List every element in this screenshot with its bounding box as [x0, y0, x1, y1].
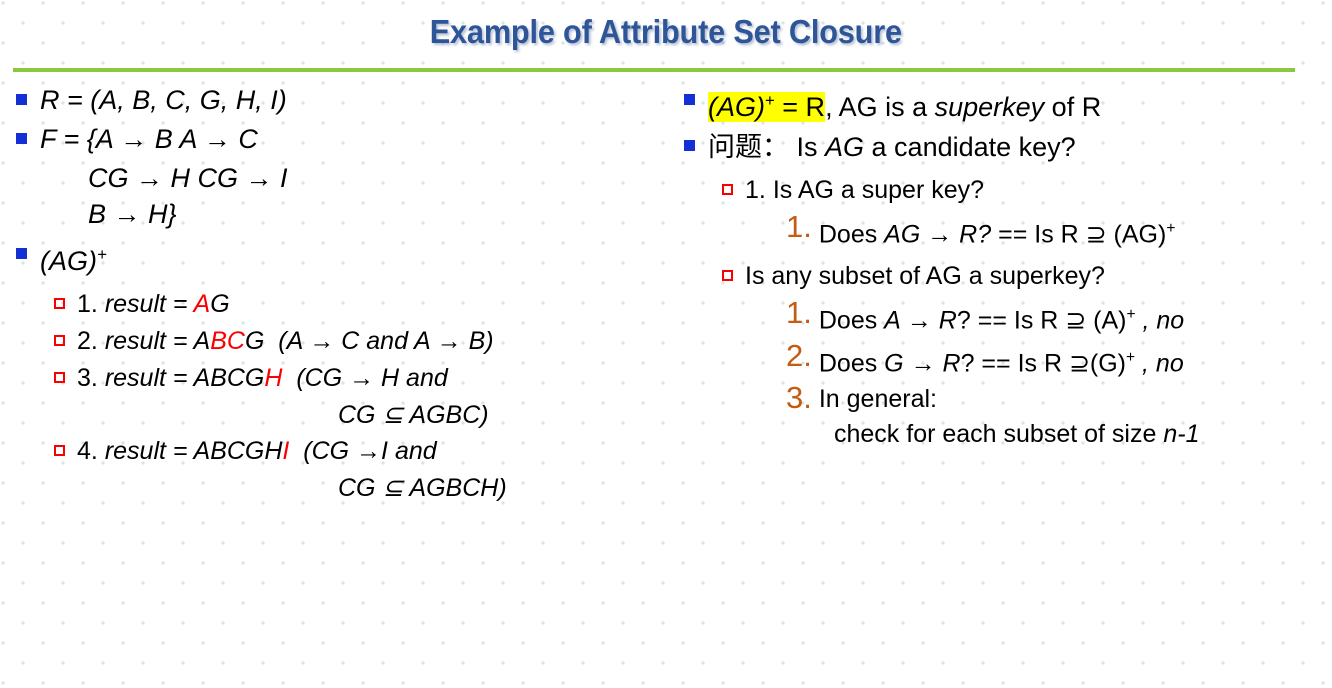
square-bullet-icon — [16, 248, 27, 259]
square-outline-bullet-icon — [722, 184, 733, 195]
step-4-continuation: CG ⊆ AGBCH) — [8, 470, 668, 506]
closure-header-text: (AG)+ — [40, 236, 107, 280]
check-3-text: Does G → R? == Is R ⊇(G)+ , no — [819, 338, 1184, 380]
square-bullet-icon — [16, 94, 27, 105]
list-item-step-2: 2. result = ABCG (A → C and A → B) — [8, 323, 668, 359]
check-1-text: Does AG → R? == Is R ⊇ (AG)+ — [819, 209, 1176, 251]
ordered-number-1: 1. — [786, 211, 812, 242]
list-item-step-4: 4. result = ABCGHI (CG →I and — [8, 433, 668, 469]
ordered-number-1: 1. — [786, 297, 812, 328]
page-title: Example of Attribute Set Closure — [430, 13, 902, 51]
sub-question-2-text: Is any subset of AG a superkey? — [745, 258, 1105, 294]
check-2-text: Does A → R? == Is R ⊇ (A)+ , no — [819, 295, 1184, 337]
sub-question-1-text: 1. Is AG a super key? — [745, 172, 984, 208]
step-3-text: 3. result = ABCGH (CG → H and — [77, 360, 448, 396]
list-item-check-1: 1. Does AG → R? == Is R ⊇ (AG)+ — [676, 209, 1326, 251]
square-bullet-icon — [16, 133, 27, 144]
right-content-column: (AG)+ = R, AG is a superkey of R 问题： Is … — [676, 82, 1326, 452]
step-4-text: 4. result = ABCGHI (CG →I and — [77, 433, 437, 469]
ordered-number-2: 2. — [786, 340, 812, 371]
question-text: 问题： Is AG a candidate key? — [708, 128, 1076, 166]
fd-set-first-line: F = {A → B A → C — [40, 121, 258, 158]
check-4-text: In general: — [819, 380, 937, 416]
superkey-conclusion-text: (AG)+ = R, AG is a superkey of R — [708, 82, 1101, 126]
step-1-text: 1. result = AG — [77, 286, 230, 322]
square-outline-bullet-icon — [54, 372, 65, 383]
square-bullet-icon — [684, 140, 695, 151]
list-item-sub-question-1: 1. Is AG a super key? — [676, 172, 1326, 208]
fd-set-second-line: CG → H CG → I — [8, 160, 668, 196]
list-item-relation: R = (A, B, C, G, H, I) — [8, 82, 668, 119]
list-item-question: 问题： Is AG a candidate key? — [676, 128, 1326, 166]
step-2-text: 2. result = ABCG (A → C and A → B) — [77, 323, 494, 359]
title-bar: Example of Attribute Set Closure — [0, 0, 1332, 64]
list-item-check-2: 1. Does A → R? == Is R ⊇ (A)+ , no — [676, 295, 1326, 337]
list-item-fd-set: F = {A → B A → C — [8, 121, 668, 158]
list-item-superkey-conclusion: (AG)+ = R, AG is a superkey of R — [676, 82, 1326, 126]
relation-definition: R = (A, B, C, G, H, I) — [40, 82, 287, 119]
check-4-continuation: check for each subset of size n-1 — [676, 416, 1326, 452]
square-outline-bullet-icon — [54, 298, 65, 309]
square-outline-bullet-icon — [722, 270, 733, 281]
list-item-closure-header: (AG)+ — [8, 236, 668, 280]
square-bullet-icon — [684, 94, 695, 105]
list-item-check-3: 2. Does G → R? == Is R ⊇(G)+ , no — [676, 338, 1326, 380]
list-item-step-1: 1. result = AG — [8, 286, 668, 322]
square-outline-bullet-icon — [54, 445, 65, 456]
step-3-continuation: CG ⊆ AGBC) — [8, 397, 668, 433]
title-divider — [13, 68, 1295, 72]
list-item-check-4: 3. In general: — [676, 380, 1326, 416]
square-outline-bullet-icon — [54, 335, 65, 346]
highlighted-closure: (AG)+ = R — [708, 92, 825, 122]
spacer — [676, 251, 1326, 258]
left-content-column: R = (A, B, C, G, H, I) F = {A → B A → C … — [8, 82, 668, 506]
fd-set-third-line: B → H} — [8, 196, 668, 232]
list-item-sub-question-2: Is any subset of AG a superkey? — [676, 258, 1326, 294]
ordered-number-3: 3. — [786, 382, 812, 413]
list-item-step-3: 3. result = ABCGH (CG → H and — [8, 360, 668, 396]
